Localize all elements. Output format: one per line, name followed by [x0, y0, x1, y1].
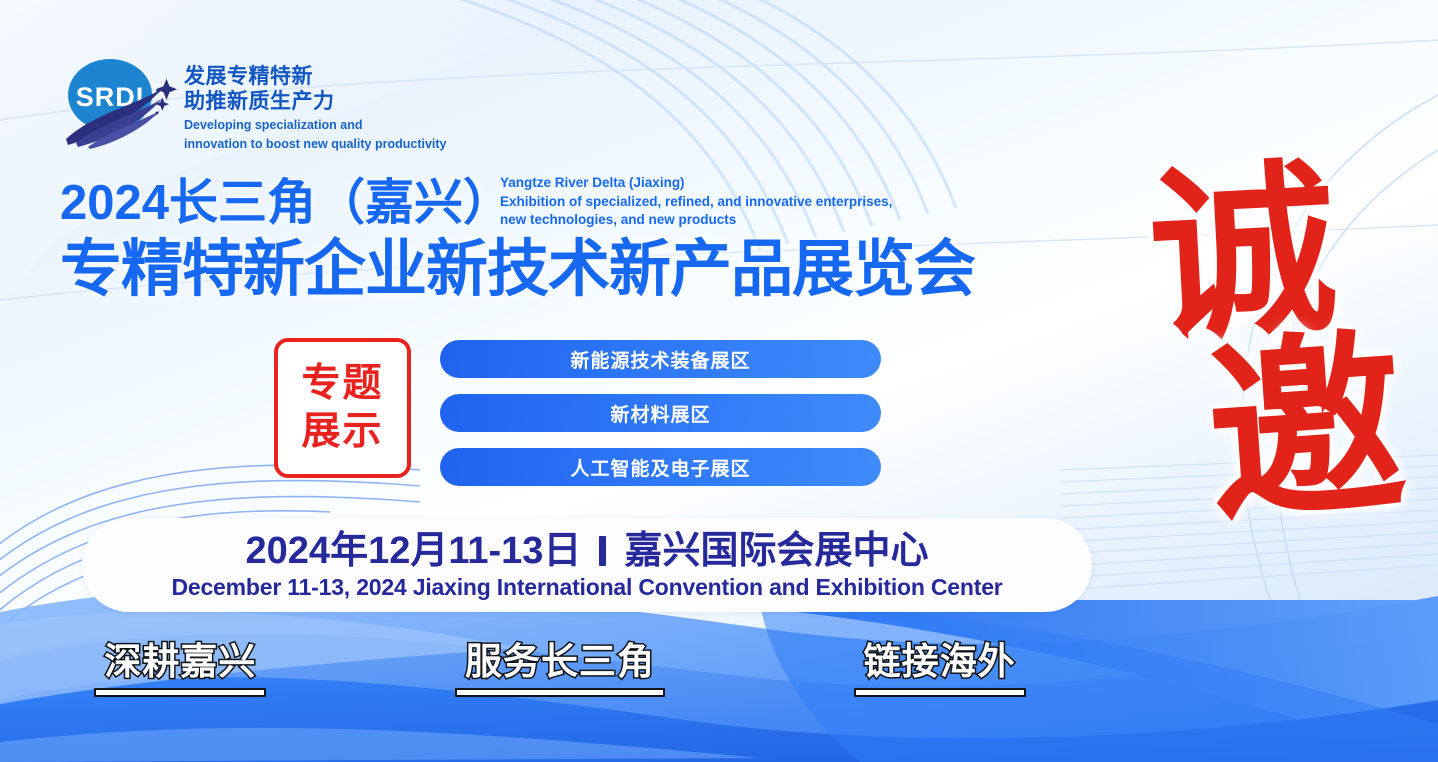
badge-line2: 展示: [301, 408, 383, 456]
logo-cn-line2: 助推新质生产力: [184, 89, 447, 114]
logo-slogan-text: 发展专精特新 助推新质生产力 Developing specialization…: [184, 55, 447, 151]
logo-en-line2: innovation to boost new quality producti…: [184, 137, 447, 152]
slogan-underline-1: [94, 688, 266, 697]
special-exhibition-badge: 专题 展示: [274, 338, 411, 478]
title-en-line1: Yangtze River Delta (Jiaxing): [500, 174, 892, 193]
zone-pill-ai-electronics[interactable]: 人工智能及电子展区: [440, 448, 881, 486]
exhibition-poster: SRDI 发展专精特新 助推新质生产力 Developing specializ…: [0, 0, 1438, 762]
title-en-line3: new technologies, and new products: [500, 211, 892, 230]
zone-pill-new-materials[interactable]: 新材料展区: [440, 394, 881, 432]
srdi-logo-icon: SRDI: [58, 55, 178, 150]
event-venue-cn: 嘉兴国际会展中心: [624, 530, 928, 572]
slogan-text-2: 服务长三角: [465, 640, 655, 684]
slogan-underline-3: [854, 688, 1026, 697]
page-title-line1: 2024长三角（嘉兴）: [60, 176, 512, 230]
page-title-line2: 专精特新企业新技术新产品展览会: [60, 235, 975, 305]
event-date-cn: 2024年12月11-13日: [246, 530, 582, 572]
slogan-row: 深耕嘉兴 服务长三角 链接海外: [0, 640, 1120, 697]
separator-bar-icon: [599, 536, 606, 566]
slogan-item-2: 服务长三角: [455, 640, 665, 697]
title-english-subtitle: Yangtze River Delta (Jiaxing) Exhibition…: [500, 174, 892, 230]
title-en-line2: Exhibition of specialized, refined, and …: [500, 193, 892, 212]
slogan-item-3: 链接海外: [854, 640, 1026, 697]
event-date-venue-en: December 11-13, 2024 Jiaxing Internation…: [171, 574, 1002, 600]
slogan-text-3: 链接海外: [864, 640, 1016, 684]
badge-line1: 专题: [301, 360, 383, 408]
zone-pill-new-energy[interactable]: 新能源技术装备展区: [440, 340, 881, 378]
exhibition-zone-list: 新能源技术装备展区 新材料展区 人工智能及电子展区: [440, 340, 881, 486]
logo-en-line1: Developing specialization and: [184, 118, 447, 133]
slogan-item-1: 深耕嘉兴: [94, 640, 266, 697]
event-date-venue-banner: 2024年12月11-13日 嘉兴国际会展中心 December 11-13, …: [82, 518, 1092, 612]
slogan-underline-2: [455, 688, 665, 697]
logo-cn-line1: 发展专精特新: [184, 64, 447, 89]
slogan-text-1: 深耕嘉兴: [104, 640, 256, 684]
event-date-venue-line: 2024年12月11-13日 嘉兴国际会展中心: [246, 530, 929, 572]
srdi-logo-block: SRDI 发展专精特新 助推新质生产力 Developing specializ…: [58, 55, 447, 151]
